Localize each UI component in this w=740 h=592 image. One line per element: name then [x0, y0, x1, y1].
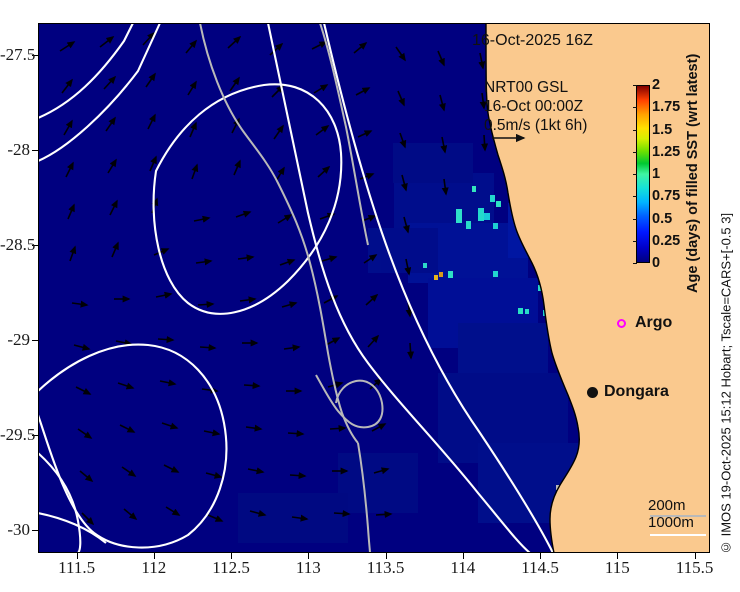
x-tick-label: 112.5: [212, 558, 250, 578]
x-tick-label: 113: [296, 558, 321, 578]
x-tick-label: 114: [450, 558, 475, 578]
depth-key-1000m-rule: [650, 534, 706, 536]
colorbar-tick-label: 1.75: [652, 99, 680, 115]
dongara-marker-group: Dongara: [587, 383, 669, 401]
colorbar-tick-label: 0: [652, 255, 660, 271]
colorbar-tick-mark: [633, 130, 637, 131]
argo-legend: Argo: [617, 314, 672, 332]
x-tick-label: 114.5: [521, 558, 559, 578]
x-tick-label: 111.5: [58, 558, 95, 578]
map-raster-layer: [38, 23, 710, 553]
colorbar-tick-mark: [633, 241, 637, 242]
y-tick-label: -30: [0, 520, 30, 540]
colorbar-tick-label: 1.25: [652, 144, 680, 160]
vector-key-block: NRT00 GSL 16-Oct 00:00Z 0.5m/s (1kt 6h): [484, 78, 587, 135]
colorbar-tick-mark: [633, 85, 637, 86]
x-tick-label: 115: [605, 558, 630, 578]
colorbar-tick-mark: [633, 174, 637, 175]
copyright-label: © IMOS 19-Oct-2025 15:12 Hobart; Tscale=…: [716, 195, 736, 555]
colorbar-tick-label: 1.5: [652, 122, 672, 138]
x-tick-label: 113.5: [367, 558, 405, 578]
colorbar-tick-mark: [633, 152, 637, 153]
figure-canvas: 16-Oct-2025 16Z NRT00 GSL 16-Oct 00:00Z …: [0, 0, 740, 592]
colorbar-tick-label: 1: [652, 166, 660, 182]
colorbar-tick-label: 2: [652, 77, 660, 93]
dongara-marker-icon: [587, 387, 598, 398]
vector-key-line1: NRT00 GSL: [484, 78, 587, 97]
colorbar-tick-mark: [633, 219, 637, 220]
y-tick-label: -28.5: [0, 235, 30, 255]
colorbar-tick-mark: [633, 263, 637, 264]
colorbar-tick-label: 0.5: [652, 211, 672, 227]
colorbar-tick-mark: [633, 196, 637, 197]
y-tick-mark: [32, 150, 38, 151]
right-arrow-icon: [492, 133, 532, 143]
y-tick-label: -29.5: [0, 425, 30, 445]
x-tick-label: 112: [141, 558, 166, 578]
argo-label: Argo: [635, 314, 672, 332]
y-tick-mark: [32, 530, 38, 531]
y-tick-label: -27.5: [0, 45, 30, 65]
colorbar-tick-label: 0.25: [652, 233, 680, 249]
vector-key-line2: 16-Oct 00:00Z: [484, 97, 587, 116]
y-tick-label: -29: [0, 330, 30, 350]
depth-key: 200m 1000m: [648, 497, 694, 531]
map-plot-area[interactable]: 16-Oct-2025 16Z NRT00 GSL 16-Oct 00:00Z …: [38, 23, 710, 553]
dongara-label: Dongara: [604, 383, 669, 401]
colorbar: [636, 85, 650, 263]
colorbar-tick-label: 0.75: [652, 188, 680, 204]
y-tick-label: -28: [0, 140, 30, 160]
colorbar-tick-mark: [633, 107, 637, 108]
colorbar-gradient: [636, 85, 650, 263]
colorbar-title: Age (days) of filled SST (wrt latest): [682, 66, 704, 281]
timestamp-label: 16-Oct-2025 16Z: [472, 32, 593, 50]
argo-marker-icon: [617, 319, 626, 328]
y-tick-mark: [32, 340, 38, 341]
x-tick-label: 115.5: [676, 558, 714, 578]
depth-key-200m-rule: [650, 515, 706, 517]
depth-key-200m: 200m: [648, 497, 694, 514]
